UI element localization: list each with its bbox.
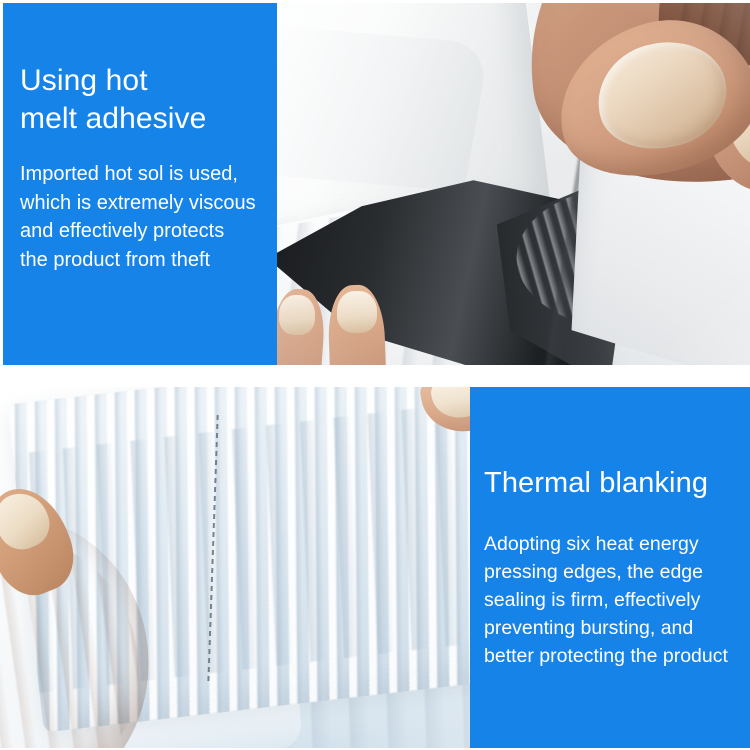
feature-headline-top: Using hot melt adhesive xyxy=(20,62,277,138)
body-line: the product from theft xyxy=(20,246,277,275)
supporting-fingernail-two xyxy=(337,291,377,333)
body-line: preventing bursting, and xyxy=(484,614,750,642)
body-line: Imported hot sol is used, xyxy=(20,160,277,189)
feature-text-block-bottom: Thermal blanking Adopting six heat energ… xyxy=(470,387,750,748)
body-line: pressing edges, the edge xyxy=(484,558,750,586)
feature-body-top: Imported hot sol is used, which is extre… xyxy=(20,160,277,274)
feature-panel-bottom: Thermal blanking Adopting six heat energ… xyxy=(0,387,750,748)
product-photo-thermal-blanking xyxy=(0,387,470,748)
supporting-fingernail-one xyxy=(279,295,315,335)
body-line: which is extremely viscous xyxy=(20,189,277,218)
feature-panel-top: Using hot melt adhesive Imported hot sol… xyxy=(3,3,750,365)
headline-line: melt adhesive xyxy=(20,100,277,138)
feature-headline-bottom: Thermal blanking xyxy=(484,465,750,501)
headline-line: Using hot xyxy=(20,62,277,100)
feature-text-block-top: Using hot melt adhesive Imported hot sol… xyxy=(3,3,277,365)
product-photo-hot-melt-adhesive xyxy=(277,3,750,365)
body-line: better protecting the product xyxy=(484,642,750,670)
feature-body-bottom: Adopting six heat energy pressing edges,… xyxy=(484,530,750,670)
body-line: and effectively protects xyxy=(20,217,277,246)
mailer-left-flap-fold xyxy=(277,24,490,192)
headline-line: Thermal blanking xyxy=(484,465,750,501)
product-feature-page: Using hot melt adhesive Imported hot sol… xyxy=(0,0,750,750)
body-line: sealing is firm, effectively xyxy=(484,586,750,614)
body-line: Adopting six heat energy xyxy=(484,530,750,558)
